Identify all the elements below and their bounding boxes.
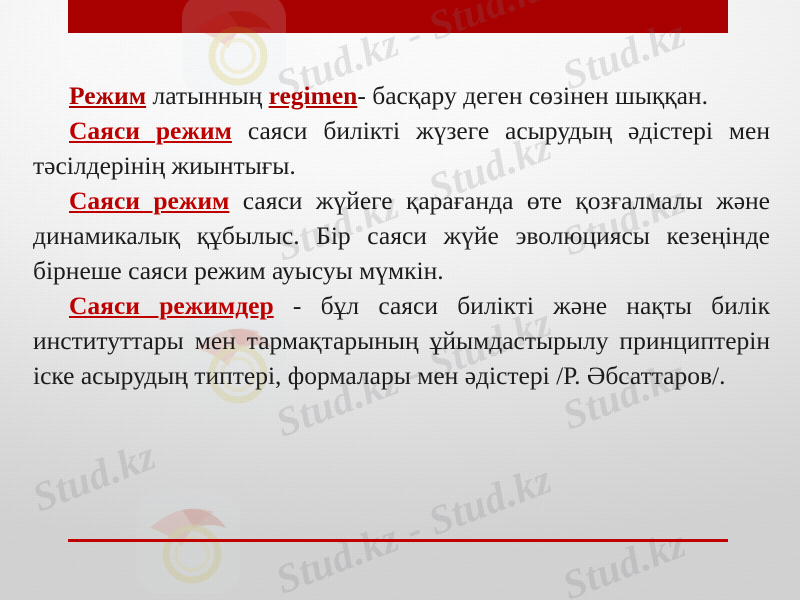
slide-body-text: Режим латынның regimen- басқару деген сө… [33,78,770,393]
term-regimen: regimen [269,81,358,110]
paragraph-political-regimes-definition: Саяси режимдер - бұл саяси билікті және … [33,288,770,393]
term-sayasi-rezhimder: Саяси режимдер [69,291,274,320]
paragraph-political-regime-dynamic: Саяси режим саяси жүйеге қарағанда өте қ… [33,183,770,288]
watermark-text: Stud.kz [556,519,692,600]
top-red-banner [68,0,728,33]
paragraph-political-regime-methods: Саяси режим саяси билікті жүзеге асыруды… [33,113,770,183]
paragraph-1-mid: латынның [146,81,268,110]
term-sayasi-rezhim: Саяси режим [69,186,229,215]
term-sayasi-rezhim: Саяси режим [69,116,232,145]
paragraph-definition-regime: Режим латынның regimen- басқару деген сө… [33,78,770,113]
slide-canvas: Stud.kz - Stud.kz Stud.kz - Stud.kz Stud… [0,0,800,600]
watermark-text: Stud.kz - Stud.kz [269,454,558,600]
bottom-red-rule [68,539,728,542]
paragraph-1-tail: - басқару деген сөзінен шыққан. [357,81,708,110]
term-rezhim: Режим [69,81,146,110]
watermark-text: Stud.kz [26,431,162,522]
